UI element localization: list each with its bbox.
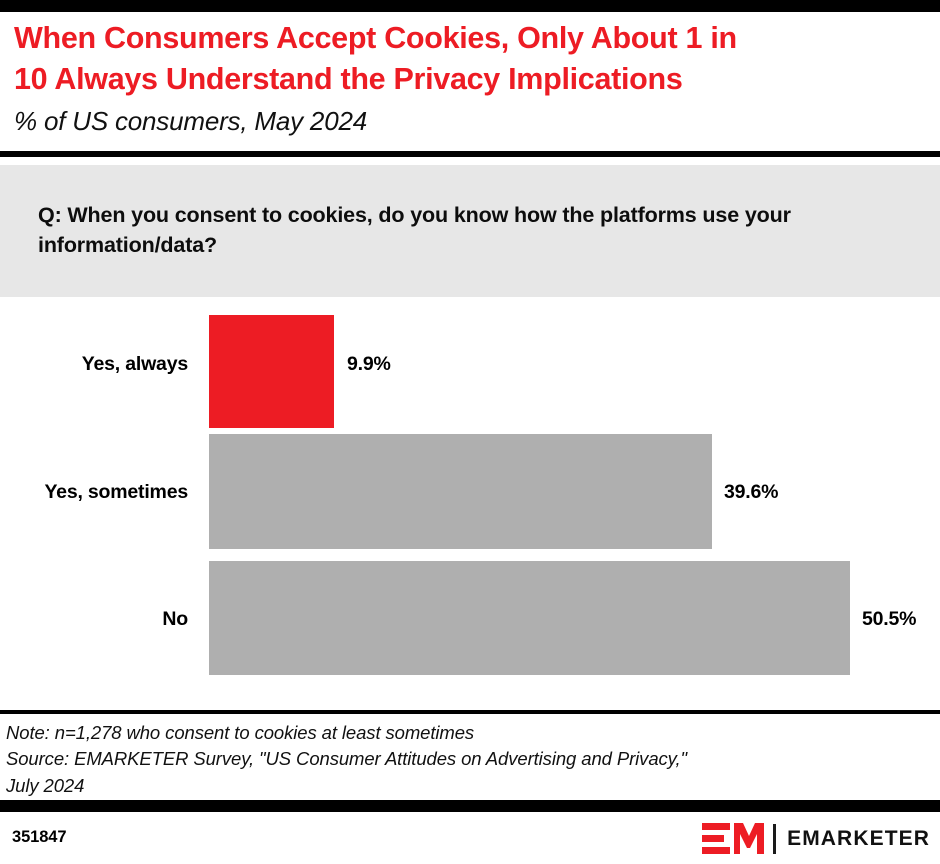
- logo-divider: [773, 824, 776, 854]
- chart-title-line-2: 10 Always Understand the Privacy Implica…: [14, 59, 914, 100]
- emarketer-logo[interactable]: EMARKETER: [702, 822, 930, 856]
- bar-chart-plot-area: Yes, always 9.9% Yes, sometimes 39.6% No…: [0, 297, 940, 710]
- title-divider-rule: [0, 151, 940, 157]
- logo-wordmark: EMARKETER: [787, 827, 930, 851]
- note-source-block: Note: n=1,278 who consent to cookies at …: [6, 720, 926, 799]
- bar-value-label: 9.9%: [347, 353, 391, 376]
- category-label: Yes, sometimes: [0, 481, 188, 504]
- source-line-continued: July 2024: [6, 773, 926, 799]
- bar-row: No 50.5%: [0, 561, 940, 679]
- category-label: No: [0, 608, 188, 631]
- chart-title-block: When Consumers Accept Cookies, Only Abou…: [14, 18, 914, 139]
- source-line: Source: EMARKETER Survey, "US Consumer A…: [6, 746, 926, 772]
- bar-neutral: [209, 561, 850, 675]
- chart-footer: 351847 EMARKETER: [0, 812, 940, 864]
- chart-id: 351847: [12, 828, 66, 847]
- top-black-rule: [0, 0, 940, 12]
- footer-black-rule: [0, 800, 940, 812]
- bar-accent: [209, 315, 334, 428]
- chart-subtitle: % of US consumers, May 2024: [14, 104, 914, 139]
- chart-title-line-1: When Consumers Accept Cookies, Only Abou…: [14, 18, 914, 59]
- em-monogram-icon: [702, 822, 764, 856]
- question-text: Q: When you consent to cookies, do you k…: [38, 201, 898, 260]
- note-divider-rule: [0, 710, 940, 714]
- category-label: Yes, always: [0, 353, 188, 376]
- note-line: Note: n=1,278 who consent to cookies at …: [6, 720, 926, 746]
- emarketer-chart-card: When Consumers Accept Cookies, Only Abou…: [0, 0, 940, 864]
- bar-neutral: [209, 434, 712, 549]
- bar-value-label: 50.5%: [862, 608, 916, 631]
- bar-row: Yes, always 9.9%: [0, 297, 940, 431]
- bar-value-label: 39.6%: [724, 481, 778, 504]
- bar-row: Yes, sometimes 39.6%: [0, 434, 940, 552]
- question-banner: Q: When you consent to cookies, do you k…: [0, 165, 940, 297]
